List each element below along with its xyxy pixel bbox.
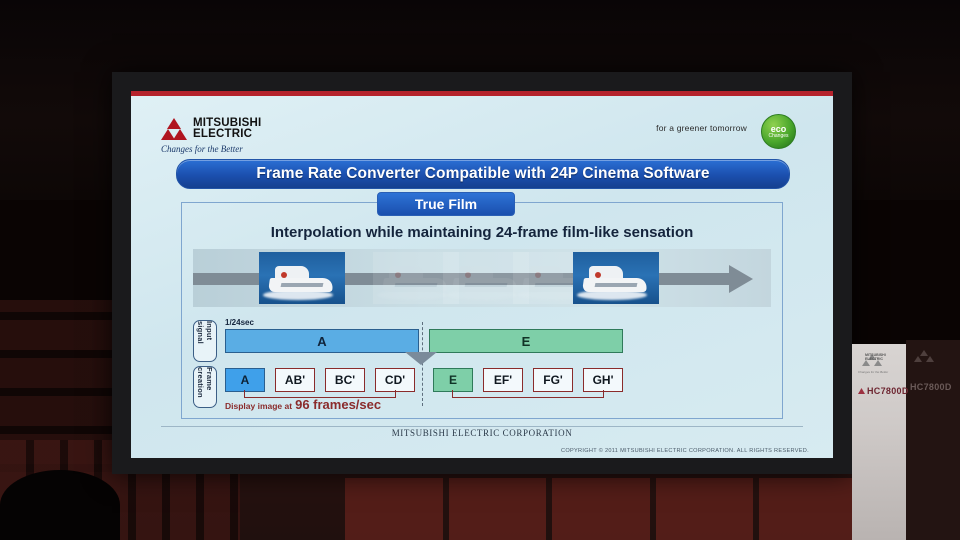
slide-content: MITSUBISHI ELECTRIC Changes for the Bett… <box>131 96 833 458</box>
signage-model-secondary: HC7800D <box>910 382 952 392</box>
footer-copyright: COPYRIGHT © 2011 MITSUBISHI ELECTRIC COR… <box>561 448 809 454</box>
input-bar-e: E <box>429 329 623 353</box>
eco-changes-badge-icon: eco Changes <box>761 114 796 149</box>
motion-arrow-head-icon <box>729 265 753 293</box>
foreground-silhouette <box>0 470 120 540</box>
created-frame-1: AB' <box>275 368 315 392</box>
logo-tagline: Changes for the Better <box>161 144 261 154</box>
film-strip-illustration <box>193 249 771 307</box>
product-signage-secondary: HC7800D <box>906 340 960 540</box>
signage-logo-secondary-icon <box>912 350 936 363</box>
logo-line2: ELECTRIC <box>193 129 261 140</box>
interval-label: 1/24sec <box>225 318 254 327</box>
greener-tomorrow-text: for a greener tomorrow <box>656 123 747 133</box>
frame-creation-label: Frame creation <box>193 366 217 408</box>
subtitle-badge-label: True Film <box>415 196 477 212</box>
created-frame-5: EF' <box>483 368 523 392</box>
created-frame-7: GH' <box>583 368 623 392</box>
slide: MITSUBISHI ELECTRIC Changes for the Bett… <box>131 91 833 458</box>
three-diamonds-icon <box>161 118 187 140</box>
subtitle-badge: True Film <box>377 192 515 216</box>
created-frame-3: CD' <box>375 368 415 392</box>
signage-tagline: Changes for the Better <box>858 370 888 374</box>
signage-brand: MITSUBISHI ELECTRIC <box>865 354 886 362</box>
mitsubishi-logo: MITSUBISHI ELECTRIC Changes for the Bett… <box>161 118 261 154</box>
signage-model: HC7800D <box>858 386 909 396</box>
input-signal-label: Input signal <box>193 320 217 362</box>
projection-screen: MITSUBISHI ELECTRIC Changes for the Bett… <box>112 72 852 474</box>
signage-model-diamond-icon <box>858 388 865 394</box>
display-rate-prefix: Display image at <box>225 401 292 411</box>
conversion-arrow-icon <box>405 352 437 365</box>
boat-frame-source-1 <box>259 252 345 304</box>
footer-divider <box>161 426 803 427</box>
slide-headline: Interpolation while maintaining 24-frame… <box>131 224 833 241</box>
input-bar-a: A <box>225 329 419 353</box>
timing-diagram: Input signal Frame creation 1/24sec A E … <box>193 318 771 408</box>
created-frame-6: FG' <box>533 368 573 392</box>
slide-title-banner: Frame Rate Converter Compatible with 24P… <box>176 159 790 189</box>
created-frame-0: A <box>225 368 265 392</box>
display-rate-value: 96 frames/sec <box>295 397 381 412</box>
boat-frame-source-2 <box>573 252 659 304</box>
product-signage: MITSUBISHI ELECTRIC Changes for the Bett… <box>852 344 906 540</box>
eco-badge-line2: Changes <box>768 134 788 139</box>
footer-corporation: MITSUBISHI ELECTRIC CORPORATION <box>131 428 833 438</box>
frame-group-brace-right <box>452 390 604 398</box>
created-frame-4: E <box>433 368 473 392</box>
slide-title: Frame Rate Converter Compatible with 24P… <box>256 165 709 183</box>
display-rate-note: Display image at 96 frames/sec <box>225 397 381 412</box>
created-frame-2: BC' <box>325 368 365 392</box>
